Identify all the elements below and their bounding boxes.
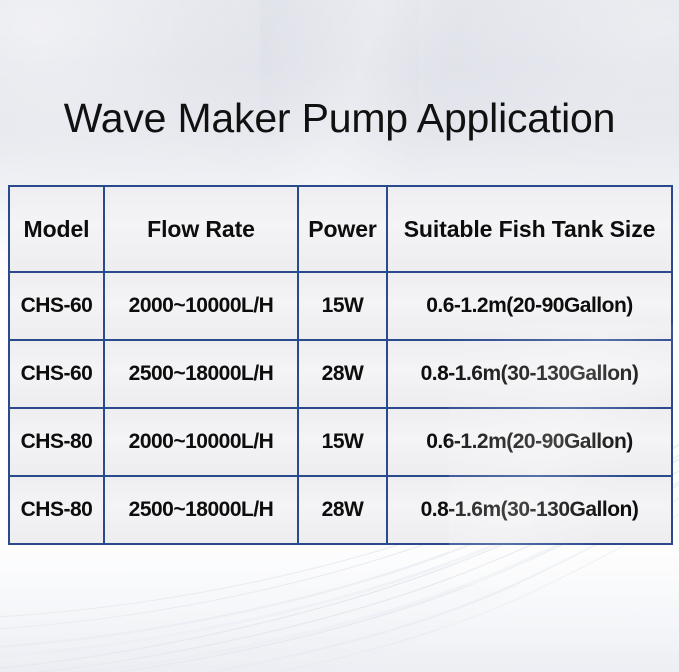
cell-tank-size: 0.8-1.6m(30-130Gallon) — [387, 340, 672, 408]
cell-tank-size: 0.8-1.6m(30-130Gallon) — [387, 476, 672, 544]
table-row: CHS-60 2500~18000L/H 28W 0.8-1.6m(30-130… — [9, 340, 672, 408]
cell-power: 15W — [298, 272, 387, 340]
cell-power: 15W — [298, 408, 387, 476]
table-row: CHS-80 2000~10000L/H 15W 0.6-1.2m(20-90G… — [9, 408, 672, 476]
cell-model: CHS-80 — [9, 476, 104, 544]
cell-flow-rate: 2500~18000L/H — [104, 476, 298, 544]
column-header-flow-rate: Flow Rate — [104, 186, 298, 272]
table-row: CHS-80 2500~18000L/H 28W 0.8-1.6m(30-130… — [9, 476, 672, 544]
column-header-tank-size: Suitable Fish Tank Size — [387, 186, 672, 272]
cell-flow-rate: 2500~18000L/H — [104, 340, 298, 408]
cell-flow-rate: 2000~10000L/H — [104, 272, 298, 340]
cell-power: 28W — [298, 340, 387, 408]
page-title: Wave Maker Pump Application — [0, 98, 679, 139]
cell-model: CHS-60 — [9, 272, 104, 340]
spec-table: Model Flow Rate Power Suitable Fish Tank… — [8, 185, 673, 545]
table-header-row: Model Flow Rate Power Suitable Fish Tank… — [9, 186, 672, 272]
cell-tank-size: 0.6-1.2m(20-90Gallon) — [387, 272, 672, 340]
cell-flow-rate: 2000~10000L/H — [104, 408, 298, 476]
spec-table-container: Model Flow Rate Power Suitable Fish Tank… — [8, 185, 671, 545]
product-spec-image: Wave Maker Pump Application Model Flow R… — [0, 0, 679, 672]
cell-model: CHS-60 — [9, 340, 104, 408]
column-header-model: Model — [9, 186, 104, 272]
table-row: CHS-60 2000~10000L/H 15W 0.6-1.2m(20-90G… — [9, 272, 672, 340]
cell-model: CHS-80 — [9, 408, 104, 476]
cell-power: 28W — [298, 476, 387, 544]
cell-tank-size: 0.6-1.2m(20-90Gallon) — [387, 408, 672, 476]
background-bottom-tint — [0, 552, 679, 672]
column-header-power: Power — [298, 186, 387, 272]
